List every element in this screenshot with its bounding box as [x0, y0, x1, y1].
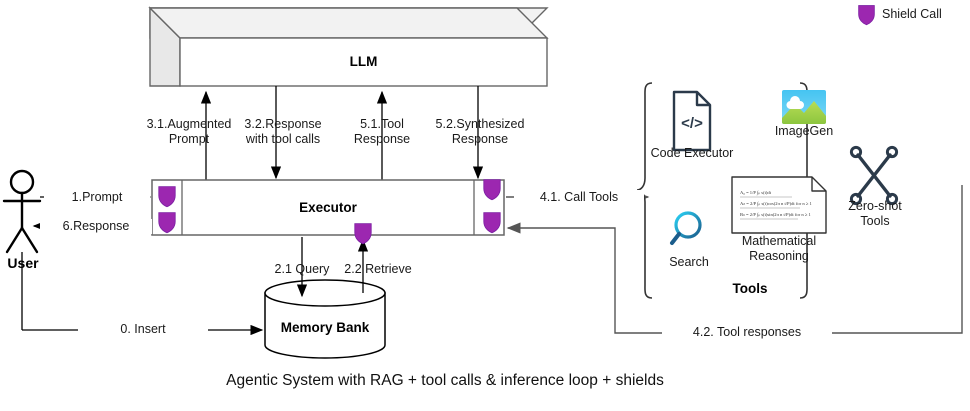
user-label: User: [0, 255, 46, 271]
shield-icon-legend: [859, 6, 875, 25]
diagram-canvas: </> A₀ = 1/P ∫ₚ s(t)dt Aₙ = 2/P ∫ₚ s(t)c…: [0, 0, 970, 411]
magnifier-icon: [672, 213, 700, 243]
memory-bank-node: [265, 280, 385, 358]
shield-icon-memory-retrieve: [355, 224, 371, 244]
tool-label-imagegen: ImageGen: [762, 124, 846, 139]
tool-label-mathematical-reasoning: Mathematical Reasoning: [731, 234, 827, 264]
edge-label-retrieve: 2.2 Retrieve: [336, 262, 420, 277]
crossed-wrenches-icon: [851, 147, 896, 203]
svg-text:</>: </>: [681, 115, 703, 132]
edge-label-call-tools: 4.1. Call Tools: [514, 190, 644, 205]
edge-label-tool-responses: 4.2. Tool responses: [662, 325, 832, 340]
edge-label-query: 2.1 Query: [265, 262, 339, 277]
tool-label-code-executor: Code Executor: [646, 146, 738, 161]
edge-label-insert: 0. Insert: [78, 322, 208, 337]
edge-label-prompt: 1.Prompt: [44, 190, 150, 205]
user-actor: [4, 171, 40, 252]
edge-label-response: 6.Response: [40, 219, 152, 234]
diagram-caption: Agentic System with RAG + tool calls & i…: [0, 372, 890, 390]
edge-label-synthesized-response: 5.2.Synthesized Response: [428, 117, 532, 147]
image-picture-icon: [782, 90, 826, 124]
llm-label: LLM: [180, 54, 547, 69]
code-document-icon: </>: [674, 92, 710, 150]
tool-label-zero-shot-tools: Zero-shot Tools: [838, 199, 912, 229]
legend-shield-call-label: Shield Call: [882, 7, 970, 22]
edge-label-augmented-prompt: 3.1.Augmented Prompt: [141, 117, 237, 147]
executor-label: Executor: [182, 200, 474, 215]
edge-label-response-with-tool-calls: 3.2.Response with tool calls: [234, 117, 332, 147]
edge-label-tool-response: 5.1.Tool Response: [343, 117, 421, 147]
formula-document-icon: A₀ = 1/P ∫ₚ s(t)dt Aₙ = 2/P ∫ₚ s(t)cos(2…: [732, 177, 826, 233]
tools-group-label: Tools: [700, 281, 800, 296]
memory-bank-label: Memory Bank: [265, 320, 385, 335]
llm-node: [150, 8, 547, 86]
tool-label-search: Search: [658, 255, 720, 270]
